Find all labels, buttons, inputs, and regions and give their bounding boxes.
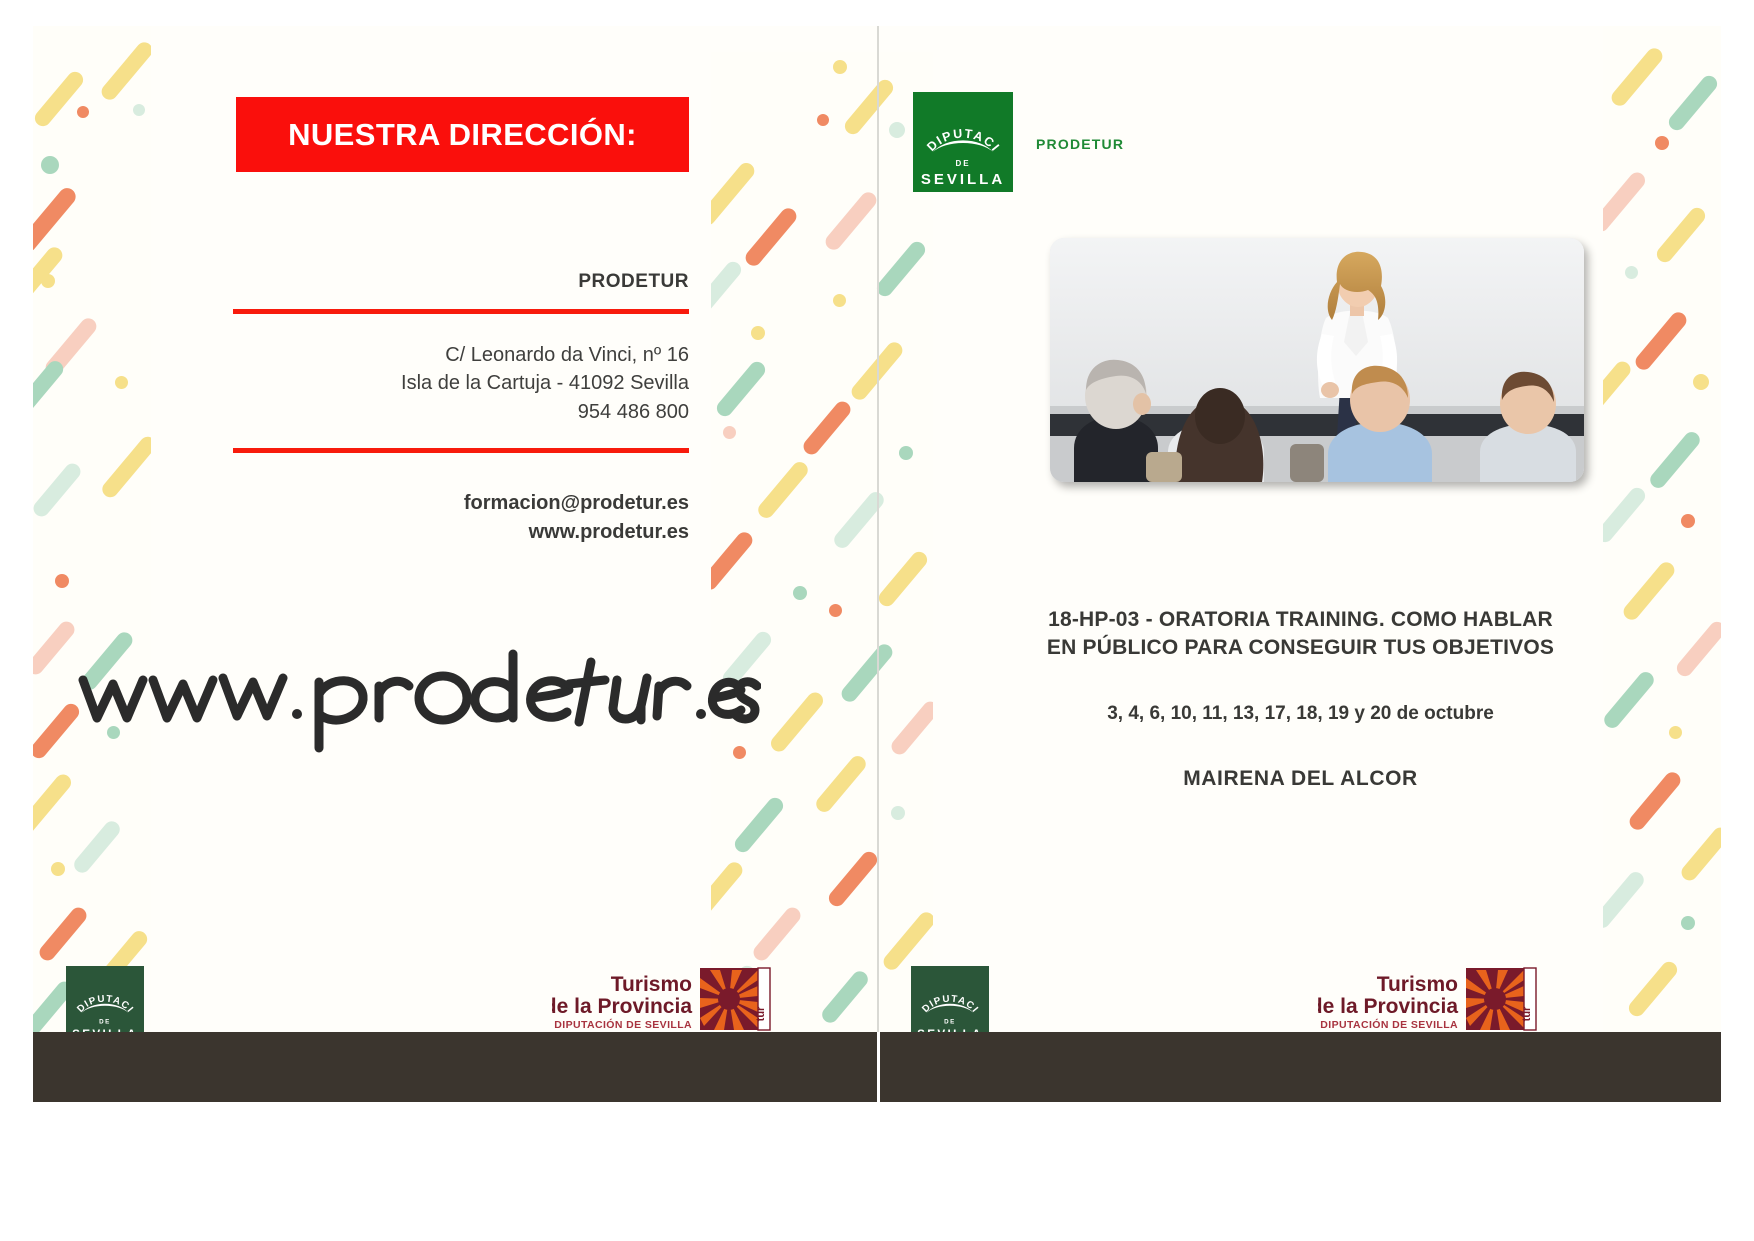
brochure-page: NUESTRA DIRECCIÓN: PRODETUR C/ Leonardo … [0,0,1754,1241]
diputacion-sevilla-logo-header: DIPUTACION DE SEVILLA [913,92,1013,192]
viewer-dark-bar [33,1032,1721,1102]
brochure-sheet: NUESTRA DIRECCIÓN: PRODETUR C/ Leonardo … [33,26,1721,1062]
svg-text:DE: DE [944,1019,956,1026]
svg-text:tur: tur [1521,1006,1533,1021]
address-line-city: Isla de la Cartuja - 41092 Sevilla [233,369,689,397]
address-block: PRODETUR C/ Leonardo da Vinci, nº 16 Isl… [233,271,689,546]
course-title-line-1: 18-HP-03 - ORATORIA TRAINING. COMO HABLA… [918,606,1683,634]
turismo-provincia-logo-right: Turismo de la Provincia DIPUTACIÓN DE SE… [1318,964,1540,1042]
contact-email[interactable]: formacion@prodetur.es [233,489,689,517]
contact-lines: formacion@prodetur.es www.prodetur.es [233,489,689,546]
turismo-provincia-logo-left: Turismo de la Provincia DIPUTACIÓN DE SE… [552,964,774,1042]
viewer-dark-bar-split [877,1032,880,1102]
svg-text:DE: DE [99,1019,111,1026]
address-organisation: PRODETUR [233,271,689,293]
nuestra-direccion-banner: NUESTRA DIRECCIÓN: [236,97,689,172]
svg-text:Turismo: Turismo [611,973,692,996]
address-rule-top [233,309,689,314]
course-title: 18-HP-03 - ORATORIA TRAINING. COMO HABLA… [918,606,1683,663]
svg-text:DIPUTACIÓN DE SEVILLA: DIPUTACIÓN DE SEVILLA [554,1018,692,1031]
course-location: MAIRENA DEL ALCOR [918,767,1683,791]
panel-front-cover: DIPUTACION DE SEVILLA PRODETUR [878,26,1721,1062]
course-title-line-2: EN PÚBLICO PARA CONSEGUIR TUS OBJETIVOS [918,634,1683,662]
panel-back-cover: NUESTRA DIRECCIÓN: PRODETUR C/ Leonardo … [33,26,877,1062]
svg-text:SEVILLA: SEVILLA [921,171,1005,188]
address-line-street: C/ Leonardo da Vinci, nº 16 [233,341,689,369]
course-dates: 3, 4, 6, 10, 11, 13, 17, 18, 19 y 20 de … [918,703,1683,725]
panel-divider [877,26,879,1062]
address-rule-bottom [233,448,689,453]
svg-text:de la Provincia: de la Provincia [552,995,692,1018]
contact-website[interactable]: www.prodetur.es [233,518,689,546]
course-info: 18-HP-03 - ORATORIA TRAINING. COMO HABLA… [918,606,1683,791]
address-line-phone: 954 486 800 [233,398,689,426]
banner-label: NUESTRA DIRECCIÓN: [288,117,637,153]
svg-text:tur: tur [755,1006,767,1021]
svg-text:DE: DE [955,159,970,168]
course-photo [1050,238,1584,482]
prodetur-script-logo [61,636,761,756]
svg-text:DIPUTACIÓN DE SEVILLA: DIPUTACIÓN DE SEVILLA [1320,1018,1458,1031]
svg-text:Turismo: Turismo [1377,973,1458,996]
svg-text:de la Provincia: de la Provincia [1318,995,1458,1018]
prodetur-wordmark: PRODETUR [1036,136,1124,152]
address-lines: C/ Leonardo da Vinci, nº 16 Isla de la C… [233,341,689,426]
